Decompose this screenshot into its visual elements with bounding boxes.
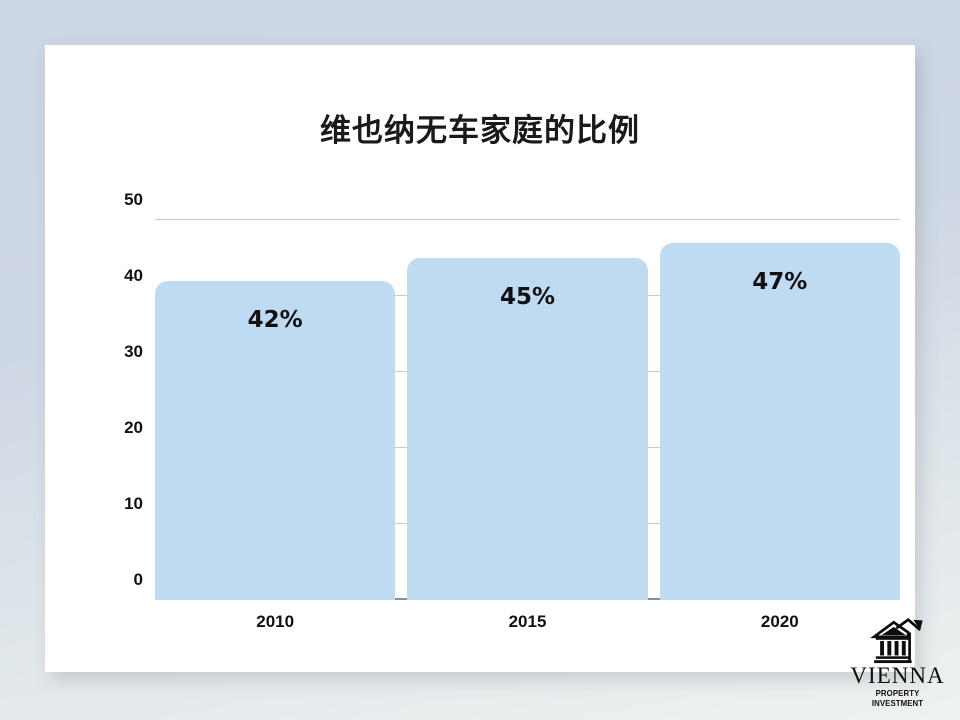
bar-chart: 50 40 30 20 10 0 42% 2010 45% 2015 <box>65 205 915 645</box>
bar-value-2020: 47% <box>660 269 900 295</box>
logo-wordmark: VIENNA <box>845 664 950 688</box>
bar-2015[interactable]: 45% <box>407 258 647 600</box>
bar-column-2010: 42% 2010 <box>155 220 395 600</box>
bar-column-2020: 47% 2020 <box>660 220 900 600</box>
y-tick-50: 50 <box>124 190 155 210</box>
bar-2010[interactable]: 42% <box>155 281 395 600</box>
logo-tagline: PROPERTY INVESTMENT <box>849 688 946 708</box>
x-tick-2015: 2015 <box>407 612 647 632</box>
bar-value-2010: 42% <box>155 307 395 333</box>
y-tick-20: 20 <box>124 418 155 438</box>
bar-value-2015: 45% <box>407 284 647 310</box>
slide-canvas: 维也纳无车家庭的比例 50 40 30 20 10 0 42% 20 <box>45 45 915 672</box>
company-logo: VIENNA PROPERTY INVESTMENT <box>845 618 950 708</box>
plot-area: 50 40 30 20 10 0 42% 2010 45% 2015 <box>155 220 900 600</box>
y-tick-30: 30 <box>124 342 155 362</box>
y-tick-40: 40 <box>124 266 155 286</box>
x-tick-2010: 2010 <box>155 612 395 632</box>
page-title: 维也纳无车家庭的比例 <box>45 105 915 150</box>
y-tick-10: 10 <box>124 494 155 514</box>
bar-column-2015: 45% 2015 <box>407 220 647 600</box>
y-tick-0: 0 <box>134 570 155 590</box>
bar-2020[interactable]: 47% <box>660 243 900 600</box>
bar-group: 42% 2010 45% 2015 47% 2020 <box>155 220 900 600</box>
bank-building-growth-arrow-icon <box>870 618 926 664</box>
